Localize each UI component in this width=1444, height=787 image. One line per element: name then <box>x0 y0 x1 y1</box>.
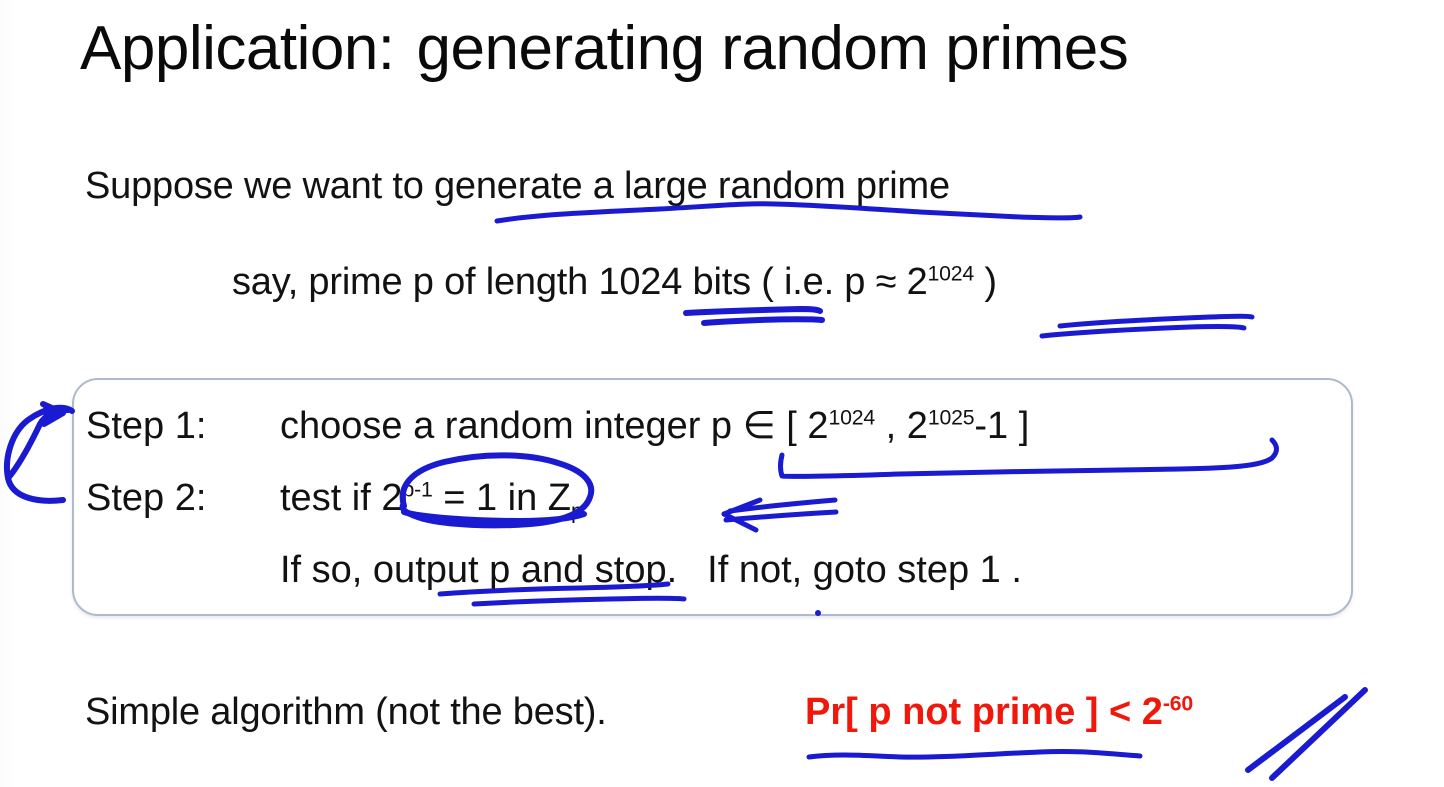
double-underline-2-1024-bottom <box>1042 327 1244 336</box>
page-title-part-2: generating random primes <box>417 14 1129 83</box>
double-underline-1024-bottom <box>704 319 822 323</box>
step-3-text: If so, output p and stop.If not, goto st… <box>280 546 1022 594</box>
loop-arrow-tail <box>8 410 68 478</box>
probability-exponent: -60 <box>1163 691 1193 715</box>
double-underline-2-1024-top <box>1060 316 1252 326</box>
step-1-exponent-b: 1025 <box>928 405 975 429</box>
step-1-exponent-a: 1024 <box>829 405 876 429</box>
slide-canvas: Application:generating random primes Sup… <box>0 0 1444 787</box>
diagonal-slash-right <box>1272 690 1365 778</box>
step-1-mid: , 2 <box>875 405 928 447</box>
simple-algorithm-note: Simple algorithm (not the best). <box>85 688 607 736</box>
suppose-line: Suppose we want to generate a large rand… <box>85 162 950 210</box>
probability-statement: Pr[ p not prime ] < 2-60 <box>805 688 1193 736</box>
step-3-text-b: If not, goto step 1 . <box>707 549 1022 591</box>
step-2-exponent: p-1 <box>403 477 433 501</box>
say-prime-line: say, prime p of length 1024 bits ( i.e. … <box>232 258 997 306</box>
probability-prefix: Pr[ p not prime ] < 2 <box>805 691 1163 733</box>
underline-pr-not-prime <box>809 751 1140 757</box>
step-2-text: test if 2p-1 = 1 in Zp <box>280 474 583 522</box>
page-title-part-1: Application: <box>80 14 395 83</box>
page-title: Application:generating random primes <box>80 6 1430 92</box>
step-2-in: in Z <box>497 477 571 519</box>
step-1-prefix: choose a random integer p ∈ [ 2 <box>280 405 829 447</box>
step-2-subscript: p <box>571 499 583 524</box>
say-line-prefix: say, prime p of length 1024 bits ( i.e. … <box>232 261 928 303</box>
loop-arrow-back-to-step-1 <box>7 408 72 501</box>
say-line-exponent: 1024 <box>928 261 975 285</box>
step-2-label: Step 2: <box>86 474 206 522</box>
loop-arrow-head <box>43 404 63 424</box>
step-1-suffix: -1 ] <box>974 405 1029 447</box>
say-line-suffix: ) <box>974 261 997 303</box>
diagonal-slash-left <box>1248 697 1345 770</box>
step-1-label: Step 1: <box>86 402 206 450</box>
step-2-prefix: test if 2 <box>280 477 403 519</box>
slide-left-edge-shading <box>0 0 14 787</box>
step-1-text: choose a random integer p ∈ [ 21024 , 21… <box>280 402 1029 450</box>
step-3-text-a: If so, output p and stop. <box>280 549 677 591</box>
step-2-mid: = 1 <box>433 477 497 519</box>
double-underline-1024-top <box>686 309 820 313</box>
